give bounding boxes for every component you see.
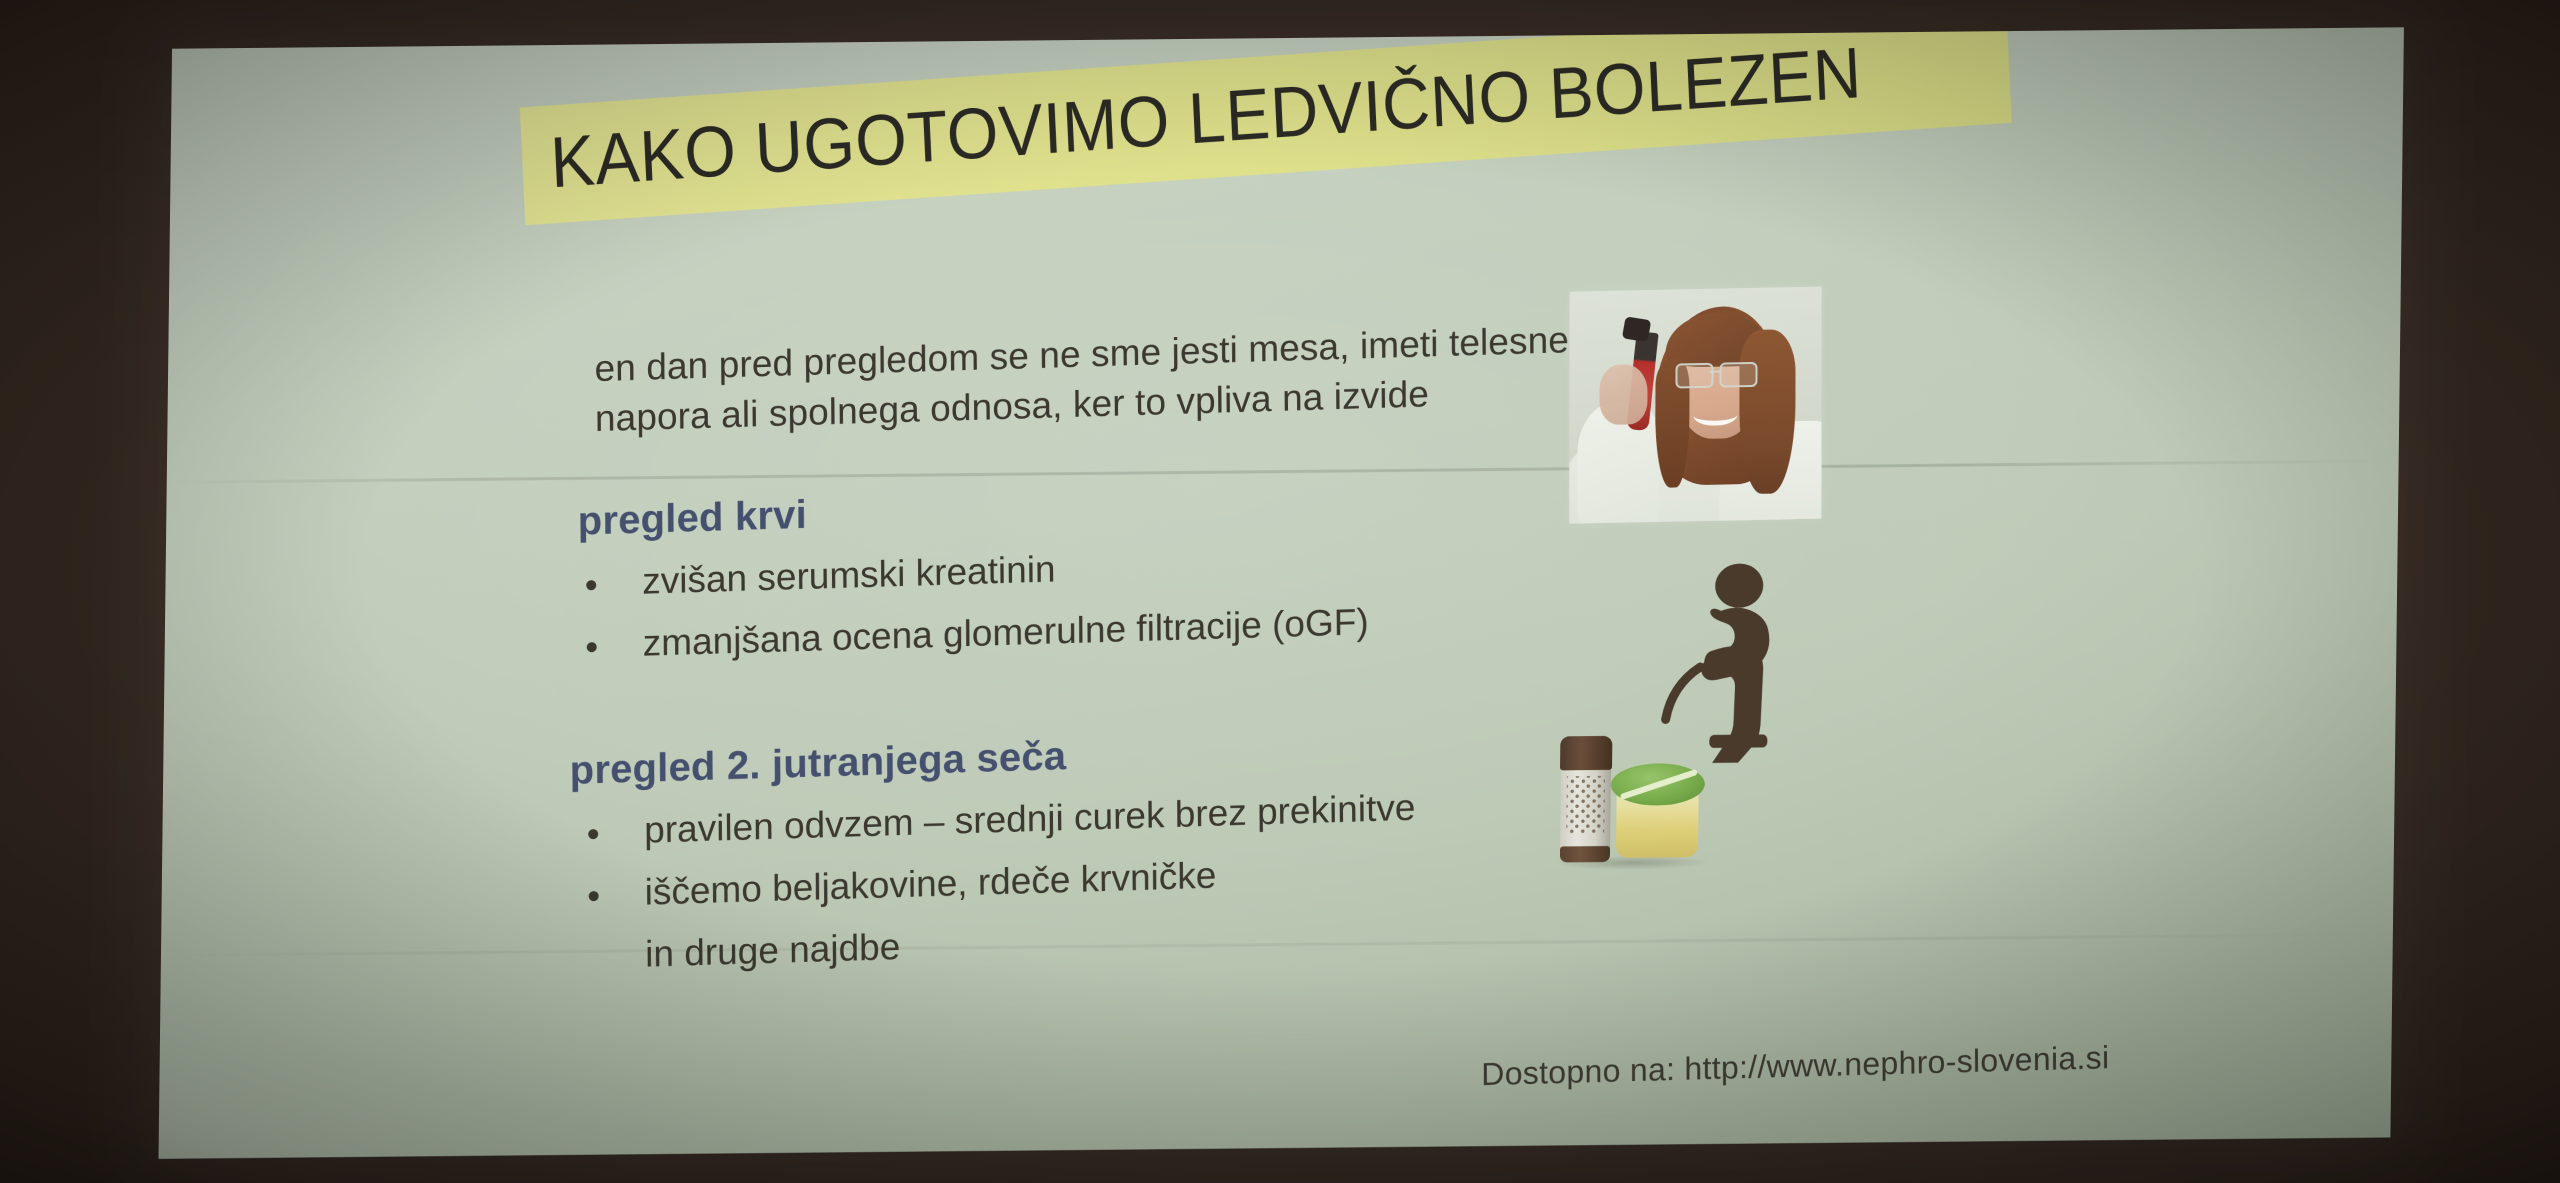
section-blood-test: pregled krvi zvišan serumski kreatinin z… <box>568 469 1629 673</box>
urine-specimen-containers <box>1554 729 1736 871</box>
projector-photo-frame: KAKO UGOTOVIMO LEDVIČNO BOLEZEN en dan p… <box>0 0 2560 1183</box>
intro-paragraph: en dan pred pregledom se ne sme jesti me… <box>594 313 1627 443</box>
hair-side-right <box>1739 329 1795 494</box>
title-highlight-band: KAKO UGOTOVIMO LEDVIČNO BOLEZEN <box>520 27 2012 225</box>
bottle-base <box>1560 846 1610 862</box>
source-credit: Dostopno na: http://www.nephro-slovenia.… <box>1481 1039 2109 1093</box>
projected-slide-surface: KAKO UGOTOVIMO LEDVIČNO BOLEZEN en dan p… <box>158 27 2403 1159</box>
bottle-cap <box>1560 736 1612 771</box>
tube-cap <box>1622 316 1651 342</box>
slide-canvas: KAKO UGOTOVIMO LEDVIČNO BOLEZEN en dan p… <box>158 27 2403 1159</box>
section-urine-test: pregled 2. jutranjega seča pravilen odvz… <box>570 718 1632 984</box>
bullet-list-blood-test: zvišan serumski kreatinin zmanjšana ocen… <box>568 526 1629 673</box>
slide-media-column <box>1551 288 1859 931</box>
safety-glasses-icon <box>1673 362 1765 386</box>
lab-technician-photo <box>1569 287 1821 524</box>
glasses-lens-left <box>1675 363 1713 389</box>
bullet-list-urine-test: pravilen odvzem – srednji curek brez pre… <box>570 775 1631 984</box>
slide-body-column: en dan pred pregledom se ne sme jesti me… <box>566 313 1631 1020</box>
hand-holding-tube <box>1599 364 1647 425</box>
page-title: KAKO UGOTOVIMO LEDVIČNO BOLEZEN <box>549 37 1863 199</box>
slide-title-block: KAKO UGOTOVIMO LEDVIČNO BOLEZEN <box>520 27 1924 225</box>
glasses-lens-right <box>1719 362 1757 388</box>
test-strip-label <box>1566 776 1605 834</box>
